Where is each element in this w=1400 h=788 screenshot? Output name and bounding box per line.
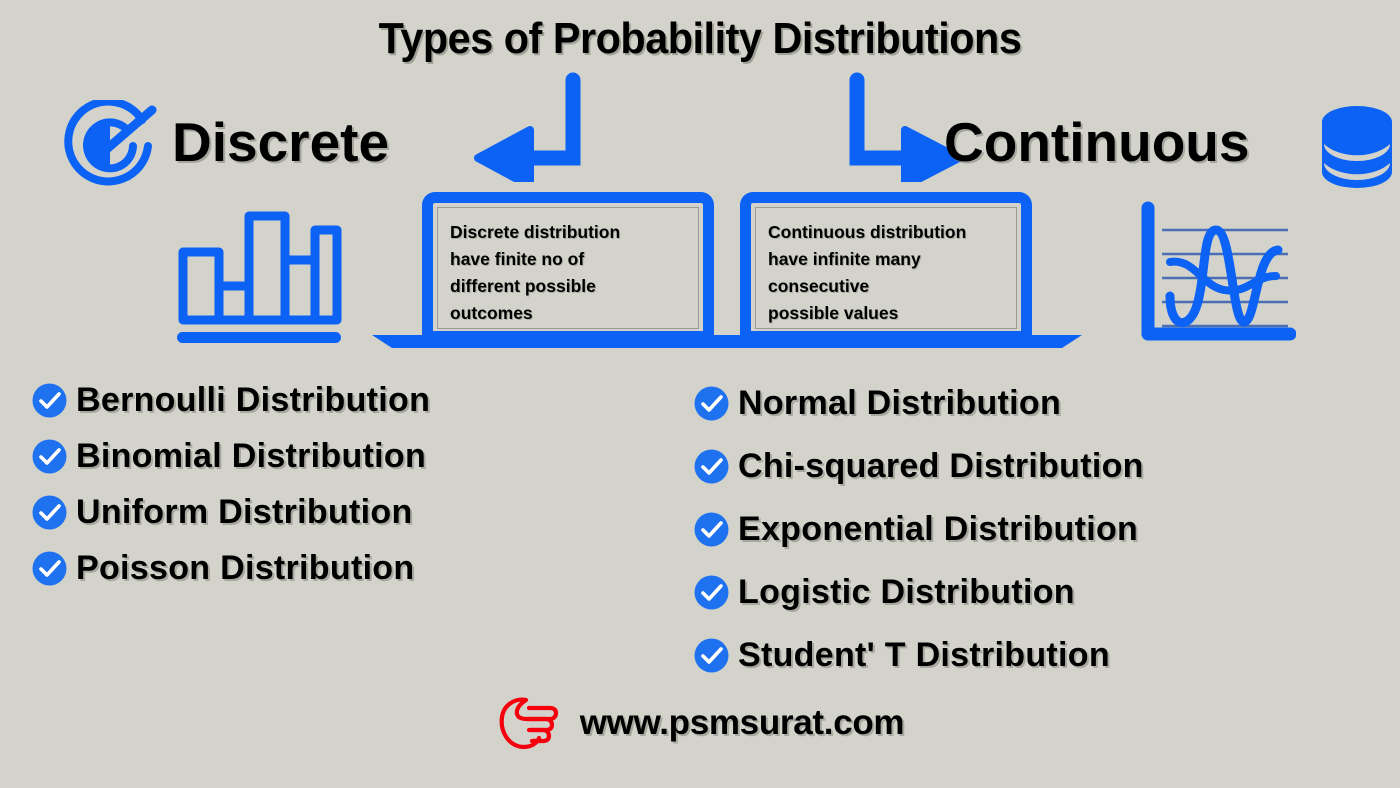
list-item[interactable]: Chi-squared Distribution [694, 435, 1354, 498]
list-item-label: Exponential Distribution [738, 510, 1138, 549]
footer: www.psmsurat.com [0, 694, 1400, 752]
bar-chart-icon [175, 208, 343, 348]
callout-screen-continuous: Continuous distribution have infinite ma… [755, 207, 1017, 329]
callout-laptop-discrete: Discrete distribution have finite no of … [422, 192, 714, 340]
branch-heading-continuous: Continuous [944, 110, 1249, 174]
pointing-hand-icon [496, 694, 562, 752]
list-item-label: Poisson Distribution [76, 549, 414, 588]
continuous-distribution-list: Normal Distribution Chi-squared Distribu… [694, 372, 1354, 687]
branch-heading-discrete: Discrete [172, 110, 389, 174]
list-item-label: Logistic Distribution [738, 573, 1075, 612]
laptop-base-bar [372, 335, 1082, 348]
list-item[interactable]: Exponential Distribution [694, 498, 1354, 561]
page-title: Types of Probability Distributions [42, 14, 1358, 64]
check-circle-icon [694, 449, 729, 484]
check-circle-icon [32, 495, 67, 530]
callout-text-discrete: Discrete distribution have finite no of … [450, 219, 690, 328]
check-circle-icon [694, 386, 729, 421]
check-circle-icon [32, 439, 67, 474]
list-item[interactable]: Poisson Distribution [32, 540, 672, 596]
target-icon [62, 100, 158, 192]
check-circle-icon [694, 512, 729, 547]
list-item-label: Student' T Distribution [738, 636, 1110, 675]
list-item[interactable]: Logistic Distribution [694, 561, 1354, 624]
check-circle-icon [694, 638, 729, 673]
elbow-arrow-left-icon [470, 72, 600, 182]
check-circle-icon [32, 551, 67, 586]
website-url: www.psmsurat.com [580, 703, 905, 743]
check-circle-icon [694, 575, 729, 610]
list-item[interactable]: Normal Distribution [694, 372, 1354, 435]
list-item-label: Uniform Distribution [76, 493, 413, 532]
list-item-label: Normal Distribution [738, 384, 1061, 423]
callout-laptops-group: Discrete distribution have finite no of … [372, 192, 1082, 352]
list-item[interactable]: Student' T Distribution [694, 624, 1354, 687]
check-circle-icon [32, 383, 67, 418]
callout-screen-discrete: Discrete distribution have finite no of … [437, 207, 699, 329]
database-icon [1318, 106, 1396, 188]
infographic-canvas: Types of Probability Distributions Discr… [0, 0, 1400, 788]
callout-laptop-continuous: Continuous distribution have infinite ma… [740, 192, 1032, 340]
list-item-label: Chi-squared Distribution [738, 447, 1144, 486]
discrete-distribution-list: Bernoulli Distribution Binomial Distribu… [32, 372, 672, 596]
line-chart-icon [1136, 200, 1296, 348]
callout-text-continuous: Continuous distribution have infinite ma… [768, 219, 1008, 328]
list-item[interactable]: Binomial Distribution [32, 428, 672, 484]
list-item[interactable]: Bernoulli Distribution [32, 372, 672, 428]
list-item-label: Binomial Distribution [76, 437, 426, 476]
list-item-label: Bernoulli Distribution [76, 381, 430, 420]
list-item[interactable]: Uniform Distribution [32, 484, 672, 540]
